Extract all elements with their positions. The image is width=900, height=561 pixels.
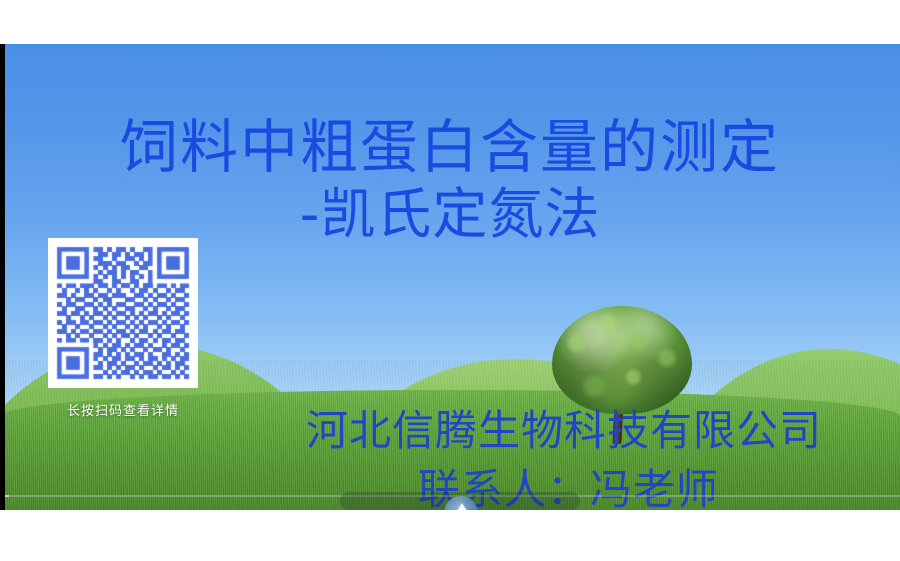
page-root: 饲料中粗蛋白含量的测定 -凯氏定氮法 河北信腾生物科技有限公司 联系人：冯老师 … (0, 0, 900, 561)
slide-title: 饲料中粗蛋白含量的测定 (0, 117, 900, 177)
contact-person: 联系人：冯老师 (418, 456, 719, 510)
qr-code-block[interactable]: 长按扫码查看详情 (48, 238, 198, 419)
contact-phone: 联系电话：13520054632 (340, 507, 884, 510)
letterbox-left-bar (0, 44, 5, 510)
video-stage[interactable]: 饲料中粗蛋白含量的测定 -凯氏定氮法 河北信腾生物科技有限公司 联系人：冯老师 … (0, 44, 900, 510)
qr-code-image[interactable] (48, 238, 198, 388)
qr-caption: 长按扫码查看详情 (48, 400, 198, 419)
company-name: 河北信腾生物科技有限公司 (306, 397, 822, 458)
slide-subtitle: -凯氏定氮法 (0, 186, 900, 244)
qr-code-card[interactable] (48, 238, 198, 388)
